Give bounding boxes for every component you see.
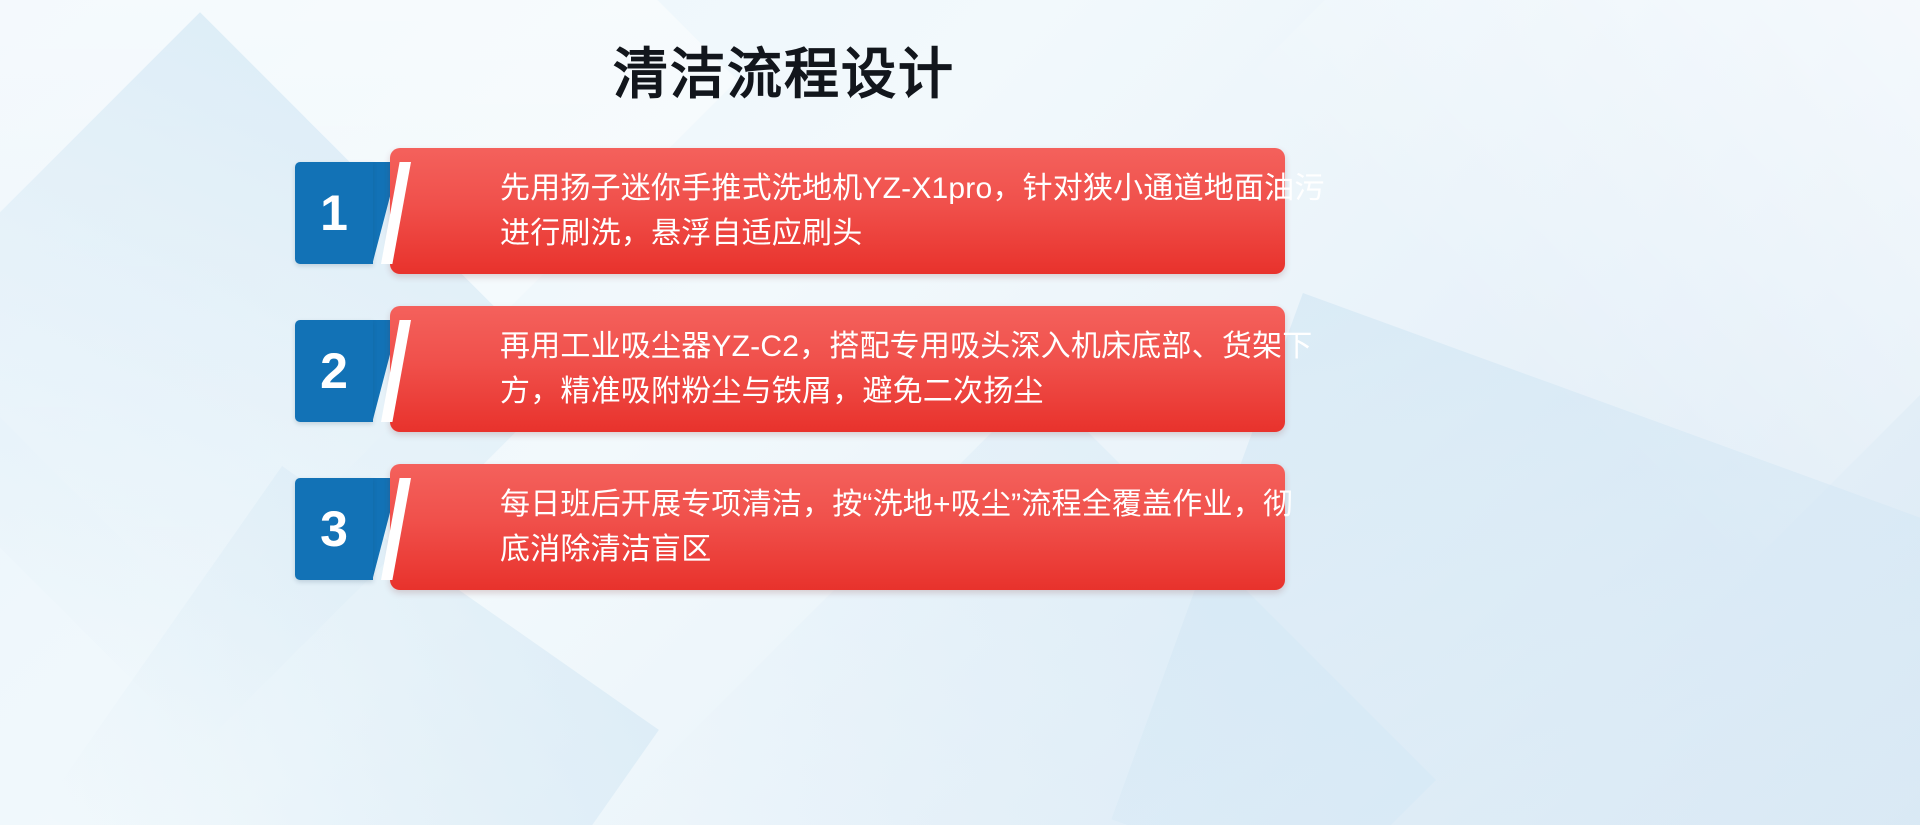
page-title: 清洁流程设计 — [0, 44, 1568, 105]
step-text-line: 进行刷洗，悬浮自适应刷头 — [500, 211, 1325, 256]
step-number-badge-3: 3 — [295, 478, 373, 580]
step-card-3[interactable]: 每日班后开展专项清洁，按“洗地+吸尘”流程全覆盖作业，彻 底消除清洁盲区 — [390, 464, 1285, 590]
slide-canvas: 清洁流程设计 1 先用扬子迷你手推式洗地机YZ-X1pro，针对狭小通道地面油污… — [0, 0, 1920, 825]
step-text-1: 先用扬子迷你手推式洗地机YZ-X1pro，针对狭小通道地面油污 进行刷洗，悬浮自… — [500, 166, 1325, 256]
step-text-line: 再用工业吸尘器YZ-C2，搭配专用吸头深入机床底部、货架下 — [500, 324, 1312, 369]
step-text-2: 再用工业吸尘器YZ-C2，搭配专用吸头深入机床底部、货架下 方，精准吸附粉尘与铁… — [500, 324, 1312, 414]
step-number-badge-2: 2 — [295, 320, 373, 422]
step-text-line: 底消除清洁盲区 — [500, 527, 1293, 572]
list-item: 3 每日班后开展专项清洁，按“洗地+吸尘”流程全覆盖作业，彻 底消除清洁盲区 — [295, 464, 1285, 590]
step-list: 1 先用扬子迷你手推式洗地机YZ-X1pro，针对狭小通道地面油污 进行刷洗，悬… — [295, 148, 1285, 590]
step-card-2[interactable]: 再用工业吸尘器YZ-C2，搭配专用吸头深入机床底部、货架下 方，精准吸附粉尘与铁… — [390, 306, 1285, 432]
step-card-1[interactable]: 先用扬子迷你手推式洗地机YZ-X1pro，针对狭小通道地面油污 进行刷洗，悬浮自… — [390, 148, 1285, 274]
list-item: 2 再用工业吸尘器YZ-C2，搭配专用吸头深入机床底部、货架下 方，精准吸附粉尘… — [295, 306, 1285, 432]
list-item: 1 先用扬子迷你手推式洗地机YZ-X1pro，针对狭小通道地面油污 进行刷洗，悬… — [295, 148, 1285, 274]
step-text-3: 每日班后开展专项清洁，按“洗地+吸尘”流程全覆盖作业，彻 底消除清洁盲区 — [500, 482, 1293, 572]
step-text-line: 方，精准吸附粉尘与铁屑，避免二次扬尘 — [500, 369, 1312, 414]
step-number-badge-1: 1 — [295, 162, 373, 264]
step-text-line: 每日班后开展专项清洁，按“洗地+吸尘”流程全覆盖作业，彻 — [500, 482, 1293, 527]
step-text-line: 先用扬子迷你手推式洗地机YZ-X1pro，针对狭小通道地面油污 — [500, 166, 1325, 211]
